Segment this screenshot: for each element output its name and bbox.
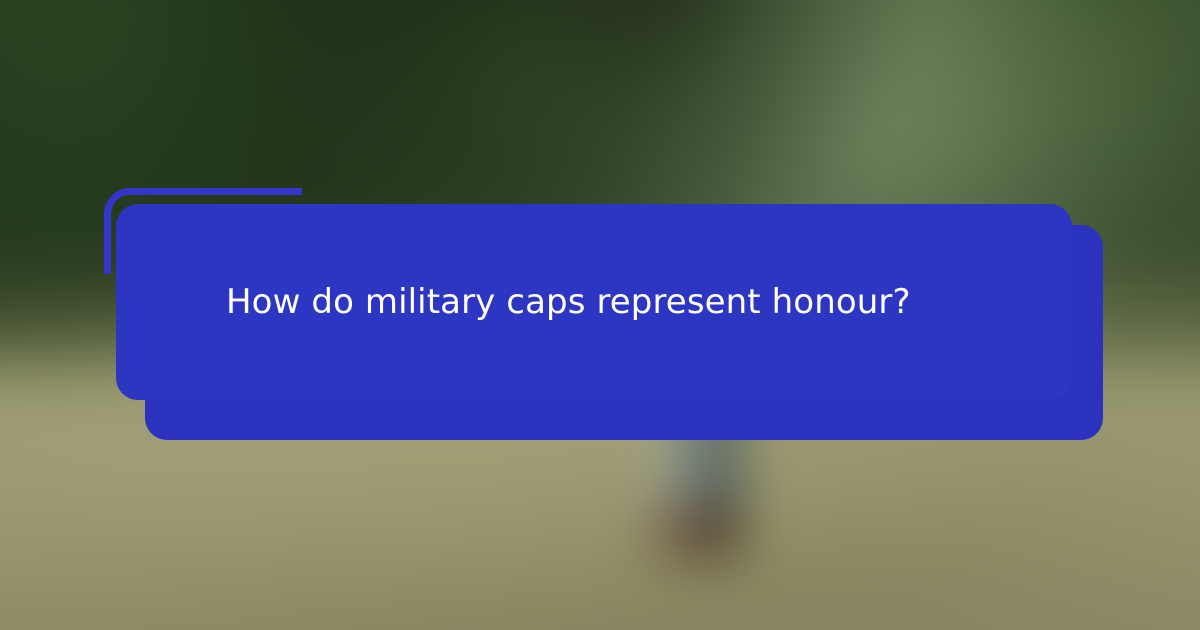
outline-cap-horizontal [295, 188, 302, 195]
person-boot-left [655, 509, 691, 558]
poster-canvas: How do military caps represent honour? [0, 0, 1200, 630]
headline-container: How do military caps represent honour? [116, 204, 1072, 400]
outline-cap-vertical [104, 267, 111, 274]
page-title: How do military caps represent honour? [226, 280, 911, 324]
person-boot-right [693, 505, 740, 560]
